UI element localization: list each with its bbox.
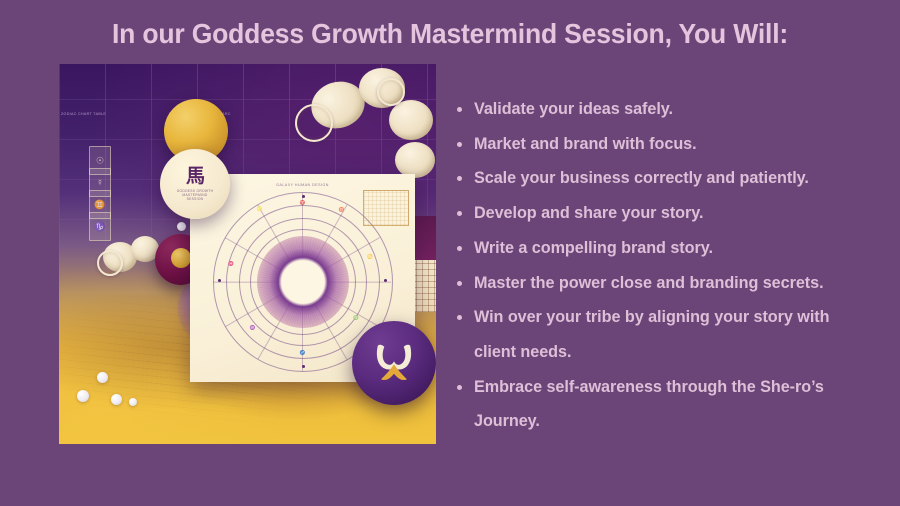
zodiac-mark-2: ♉	[339, 207, 345, 213]
list-item: Win over your tribe by aligning your sto…	[452, 300, 872, 369]
list-item: Embrace self-awareness through the She-r…	[452, 370, 872, 439]
tarot-card-4: ♑	[89, 212, 111, 241]
chart-node-3	[384, 279, 387, 282]
zodiac-mark-8: ♌	[257, 206, 263, 212]
pearl-1	[97, 372, 108, 383]
zodiac-mark-4: ♍	[353, 315, 359, 321]
swirl-ring-2	[377, 78, 405, 106]
gold-dot	[171, 248, 191, 268]
benefits-list: Validate your ideas safely. Market and b…	[452, 92, 872, 439]
chart-node-1	[302, 195, 305, 198]
zodiac-mark-5: ♐	[300, 350, 306, 356]
capricorn-icon: ♑	[94, 222, 105, 231]
swirl-cloud-3	[389, 100, 433, 140]
swirl-ring-3	[97, 250, 123, 276]
zodiac-mark-1: ♈	[300, 200, 306, 206]
slide-root: In our Goddess Growth Mastermind Session…	[0, 0, 900, 506]
brand-logo-subtext: GODDESS GROWTH MASTERMIND SESSION	[177, 189, 214, 202]
zodiac-mark-3: ♋	[367, 254, 373, 260]
collage-label-zodiac-chart: ZODIAC CHART TABLE	[61, 112, 106, 116]
collage-canvas: ZODIAC CHART TABLE NATAL POSITION LUNAR …	[59, 64, 436, 444]
pearl-2	[77, 390, 89, 402]
page-title: In our Goddess Growth Mastermind Session…	[16, 17, 885, 51]
sun-icon: ☉	[96, 156, 104, 165]
pearl-5	[177, 222, 186, 231]
list-item: Validate your ideas safely.	[452, 92, 872, 127]
list-item: Master the power close and branding secr…	[452, 266, 872, 301]
wheel-aura-core	[257, 236, 349, 328]
zodiac-mark-7: ♓	[228, 261, 234, 267]
collage-image: ZODIAC CHART TABLE NATAL POSITION LUNAR …	[59, 64, 436, 444]
goddess-horns-icon	[367, 336, 421, 390]
pearl-3	[111, 394, 122, 405]
list-item: Develop and share your story.	[452, 196, 872, 231]
list-item: Market and brand with focus.	[452, 127, 872, 162]
swirl-cloud-4	[395, 142, 435, 178]
chart-node-4	[302, 365, 305, 368]
chart-node-2	[218, 279, 221, 282]
list-item: Scale your business correctly and patien…	[452, 161, 872, 196]
goddess-emblem-sphere	[352, 321, 436, 405]
swirl-ring-1	[295, 104, 333, 142]
pearl-4	[129, 398, 137, 406]
list-item: Write a compelling brand story.	[452, 231, 872, 266]
mercury-icon: ☿	[97, 178, 104, 187]
brand-glyph-icon: 馬	[186, 167, 204, 186]
brand-logo-subtext-line-3: SESSION	[177, 197, 214, 201]
zodiac-mark-6: ♒	[250, 325, 256, 331]
brand-logo-circle: 馬 GODDESS GROWTH MASTERMIND SESSION	[160, 149, 230, 219]
gemini-icon: ♊	[94, 200, 105, 209]
chart-inset-grid	[363, 190, 409, 226]
